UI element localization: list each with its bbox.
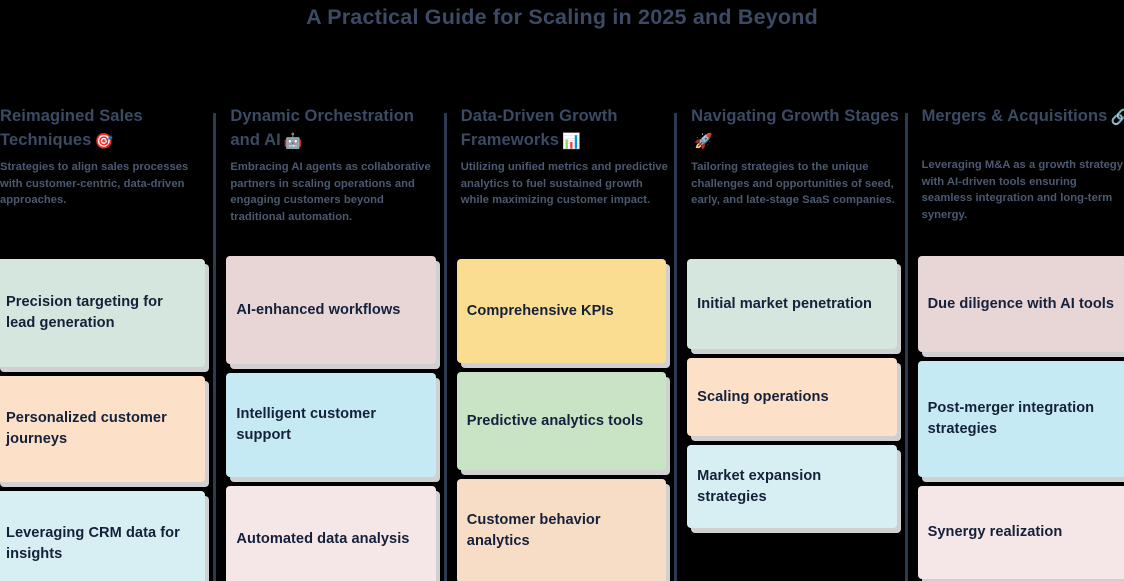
card-label: Scaling operations — [697, 387, 828, 408]
card-label: Post-merger integration strategies — [928, 398, 1117, 440]
link-icon: 🔗 — [1107, 109, 1124, 126]
column-heading: Dynamic Orchestration and AI🤖 — [230, 104, 438, 154]
column-heading-text: Navigating Growth Stages — [691, 107, 899, 125]
title-bar: A Practical Guide for Scaling in 2025 an… — [0, 0, 1124, 36]
card-label: Initial market penetration — [697, 294, 872, 315]
column-heading: Reimagined Sales Techniques🎯 — [0, 104, 208, 154]
column-subtitle: Leveraging M&A as a growth strategy with… — [922, 157, 1124, 223]
card-list: AI-enhanced workflows Intelligent custom… — [226, 256, 435, 581]
card-item[interactable]: Due diligence with AI tools — [918, 256, 1124, 352]
card-item[interactable]: Intelligent customer support — [226, 373, 435, 477]
card-label: Automated data analysis — [236, 529, 409, 550]
column-dynamic-orchestration-and-ai: Dynamic Orchestration and AI🤖 Embracing … — [216, 104, 446, 581]
card-item[interactable]: Post-merger integration strategies — [918, 361, 1124, 477]
card-item[interactable]: Initial market penetration — [687, 259, 896, 349]
card-item[interactable]: AI-enhanced workflows — [226, 256, 435, 364]
card-label: Customer behavior analytics — [467, 510, 656, 552]
column-subtitle: Strategies to align sales processes with… — [0, 159, 208, 209]
card-list: Comprehensive KPIs Predictive analytics … — [457, 259, 666, 581]
card-item[interactable]: Personalized customer journeys — [0, 376, 205, 482]
column-heading: Mergers & Acquisitions🔗 — [922, 104, 1124, 152]
column-heading: Data-Driven Growth Frameworks📊 — [461, 104, 669, 154]
card-label: Precision targeting for lead generation — [6, 292, 195, 334]
robot-icon: 🤖 — [281, 133, 303, 150]
card-label: Market expansion strategies — [697, 466, 886, 508]
rocket-icon: 🚀 — [691, 133, 713, 150]
card-item[interactable]: Precision targeting for lead generation — [0, 259, 205, 367]
card-label: Predictive analytics tools — [467, 411, 644, 432]
column-heading: Navigating Growth Stages🚀 — [691, 104, 899, 154]
card-item[interactable]: Synergy realization — [918, 486, 1124, 579]
column-heading-text: Data-Driven Growth Frameworks — [461, 107, 618, 149]
columns-container: Reimagined Sales Techniques🎯 Strategies … — [0, 104, 1124, 581]
card-label: Leveraging CRM data for insights — [6, 523, 195, 565]
card-item[interactable]: Customer behavior analytics — [457, 479, 666, 581]
card-list: Precision targeting for lead generation … — [0, 259, 205, 581]
card-item[interactable]: Leveraging CRM data for insights — [0, 491, 205, 581]
column-heading-text: Mergers & Acquisitions — [922, 107, 1108, 125]
bar-chart-icon: 📊 — [559, 133, 581, 150]
card-item[interactable]: Market expansion strategies — [687, 445, 896, 528]
page-title: A Practical Guide for Scaling in 2025 an… — [0, 2, 1124, 32]
card-label: Synergy realization — [928, 522, 1063, 543]
column-navigating-growth-stages: Navigating Growth Stages🚀 Tailoring stra… — [677, 104, 907, 581]
target-icon: 🎯 — [91, 133, 113, 150]
card-list: Due diligence with AI tools Post-merger … — [918, 256, 1124, 581]
card-label: Personalized customer journeys — [6, 408, 195, 450]
column-subtitle: Utilizing unified metrics and predictive… — [461, 159, 669, 209]
card-item[interactable]: Comprehensive KPIs — [457, 259, 666, 363]
column-heading-text: Reimagined Sales Techniques — [0, 107, 143, 149]
card-label: Due diligence with AI tools — [928, 294, 1115, 315]
column-subtitle: Embracing AI agents as collaborative par… — [230, 159, 438, 225]
slide-board: A Practical Guide for Scaling in 2025 an… — [0, 0, 1124, 581]
card-list: Initial market penetration Scaling opera… — [687, 259, 896, 537]
column-data-driven-growth-frameworks: Data-Driven Growth Frameworks📊 Utilizing… — [447, 104, 677, 581]
column-reimagined-sales-techniques: Reimagined Sales Techniques🎯 Strategies … — [0, 104, 216, 581]
card-item[interactable]: Predictive analytics tools — [457, 372, 666, 470]
column-heading-text: Dynamic Orchestration and AI — [230, 107, 414, 149]
card-label: Comprehensive KPIs — [467, 301, 614, 322]
column-subtitle: Tailoring strategies to the unique chall… — [691, 159, 899, 209]
card-item[interactable]: Scaling operations — [687, 358, 896, 436]
card-label: Intelligent customer support — [236, 404, 425, 446]
card-item[interactable]: Automated data analysis — [226, 486, 435, 581]
column-mergers-and-acquisitions: Mergers & Acquisitions🔗 Leveraging M&A a… — [908, 104, 1124, 581]
card-label: AI-enhanced workflows — [236, 300, 400, 321]
